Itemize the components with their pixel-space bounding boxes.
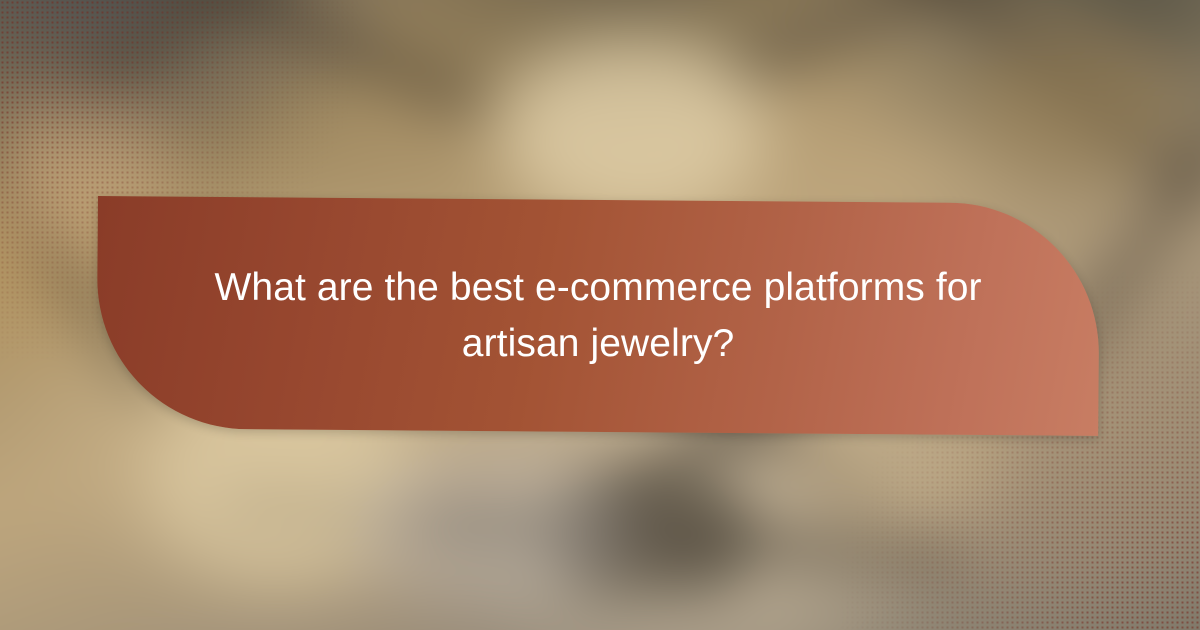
question-line-2: artisan jewelry?	[462, 316, 735, 372]
question-card: What are the best e-commerce platforms f…	[0, 0, 1200, 630]
question-text: What are the best e-commerce platforms f…	[97, 200, 1099, 432]
question-banner: What are the best e-commerce platforms f…	[96, 196, 1100, 436]
question-line-1: What are the best e-commerce platforms f…	[214, 260, 981, 316]
